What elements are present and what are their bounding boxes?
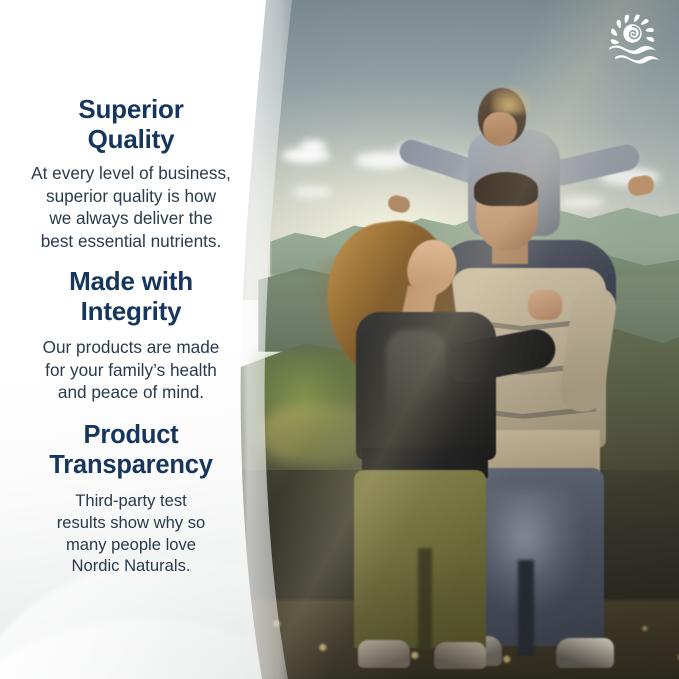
body-line: Nordic Naturals. bbox=[8, 555, 254, 577]
jeans-leg-gap bbox=[518, 560, 534, 656]
body-line: results show why so bbox=[8, 512, 254, 534]
heading-line-2: Transparency bbox=[49, 451, 212, 479]
body-line: and peace of mind. bbox=[8, 381, 254, 404]
father-right-shoe bbox=[556, 638, 614, 668]
heading-line-2: Quality bbox=[88, 124, 175, 154]
promo-image: Superior Quality At every level of busin… bbox=[0, 0, 679, 679]
body-line: we always deliver the bbox=[8, 207, 254, 230]
heading-line-2: Integrity bbox=[81, 296, 182, 326]
body-line: best essential nutrients. bbox=[8, 230, 254, 253]
body-line: Our products are made bbox=[8, 336, 254, 359]
benefit-block-made-with-integrity: Made with Integrity Our products are mad… bbox=[0, 266, 262, 404]
benefit-body: Our products are made for your family’s … bbox=[8, 336, 254, 404]
heading-line-1: Made with bbox=[69, 266, 193, 296]
pants-leg-gap bbox=[418, 548, 432, 650]
benefit-block-superior-quality: Superior Quality At every level of busin… bbox=[0, 94, 262, 252]
benefits-text-column: Superior Quality At every level of busin… bbox=[0, 0, 262, 679]
heading-line-1: Superior bbox=[78, 94, 183, 124]
body-line: many people love bbox=[8, 534, 254, 556]
cloud bbox=[560, 196, 604, 209]
mother-right-shoe bbox=[434, 642, 486, 669]
heading-line-1: Product bbox=[84, 421, 179, 449]
benefit-heading: Superior Quality bbox=[8, 94, 254, 154]
benefit-block-product-transparency: Product Transparency Third-party test re… bbox=[0, 421, 262, 577]
body-line: for your family’s health bbox=[8, 359, 254, 382]
jacket-sheen bbox=[386, 330, 446, 440]
child-hair-highlight bbox=[492, 84, 534, 114]
body-line: At every level of business, bbox=[8, 162, 254, 185]
cloud bbox=[300, 140, 326, 152]
child-face bbox=[483, 112, 517, 146]
body-line: Third-party test bbox=[8, 490, 254, 512]
benefit-heading: Product Transparency bbox=[8, 421, 254, 480]
body-line: superior quality is how bbox=[8, 185, 254, 208]
benefit-heading: Made with Integrity bbox=[8, 266, 254, 326]
father-hair bbox=[474, 172, 538, 206]
father-hand bbox=[528, 290, 562, 320]
mother-left-shoe bbox=[358, 640, 410, 668]
benefit-body: Third-party test results show why so man… bbox=[8, 490, 254, 577]
cloud bbox=[292, 186, 332, 198]
benefit-body: At every level of business, superior qua… bbox=[8, 162, 254, 252]
